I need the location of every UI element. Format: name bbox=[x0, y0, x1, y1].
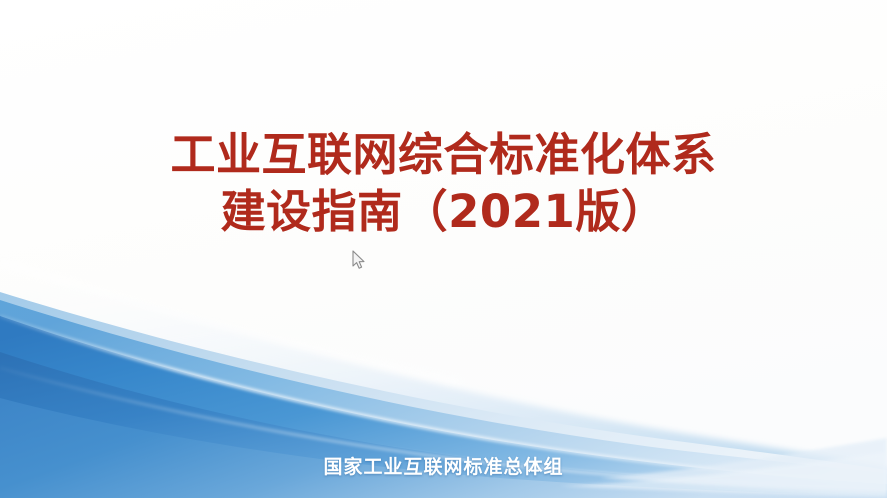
mouse-cursor-icon bbox=[352, 250, 366, 270]
presentation-slide: 工业互联网综合标准化体系 建设指南（2021版） 国家工业互联网标准总体组 bbox=[0, 0, 887, 498]
slide-footer: 国家工业互联网标准总体组 bbox=[0, 452, 887, 484]
background-wave-artwork bbox=[0, 0, 887, 498]
footer-organization-label: 国家工业互联网标准总体组 bbox=[323, 456, 563, 478]
